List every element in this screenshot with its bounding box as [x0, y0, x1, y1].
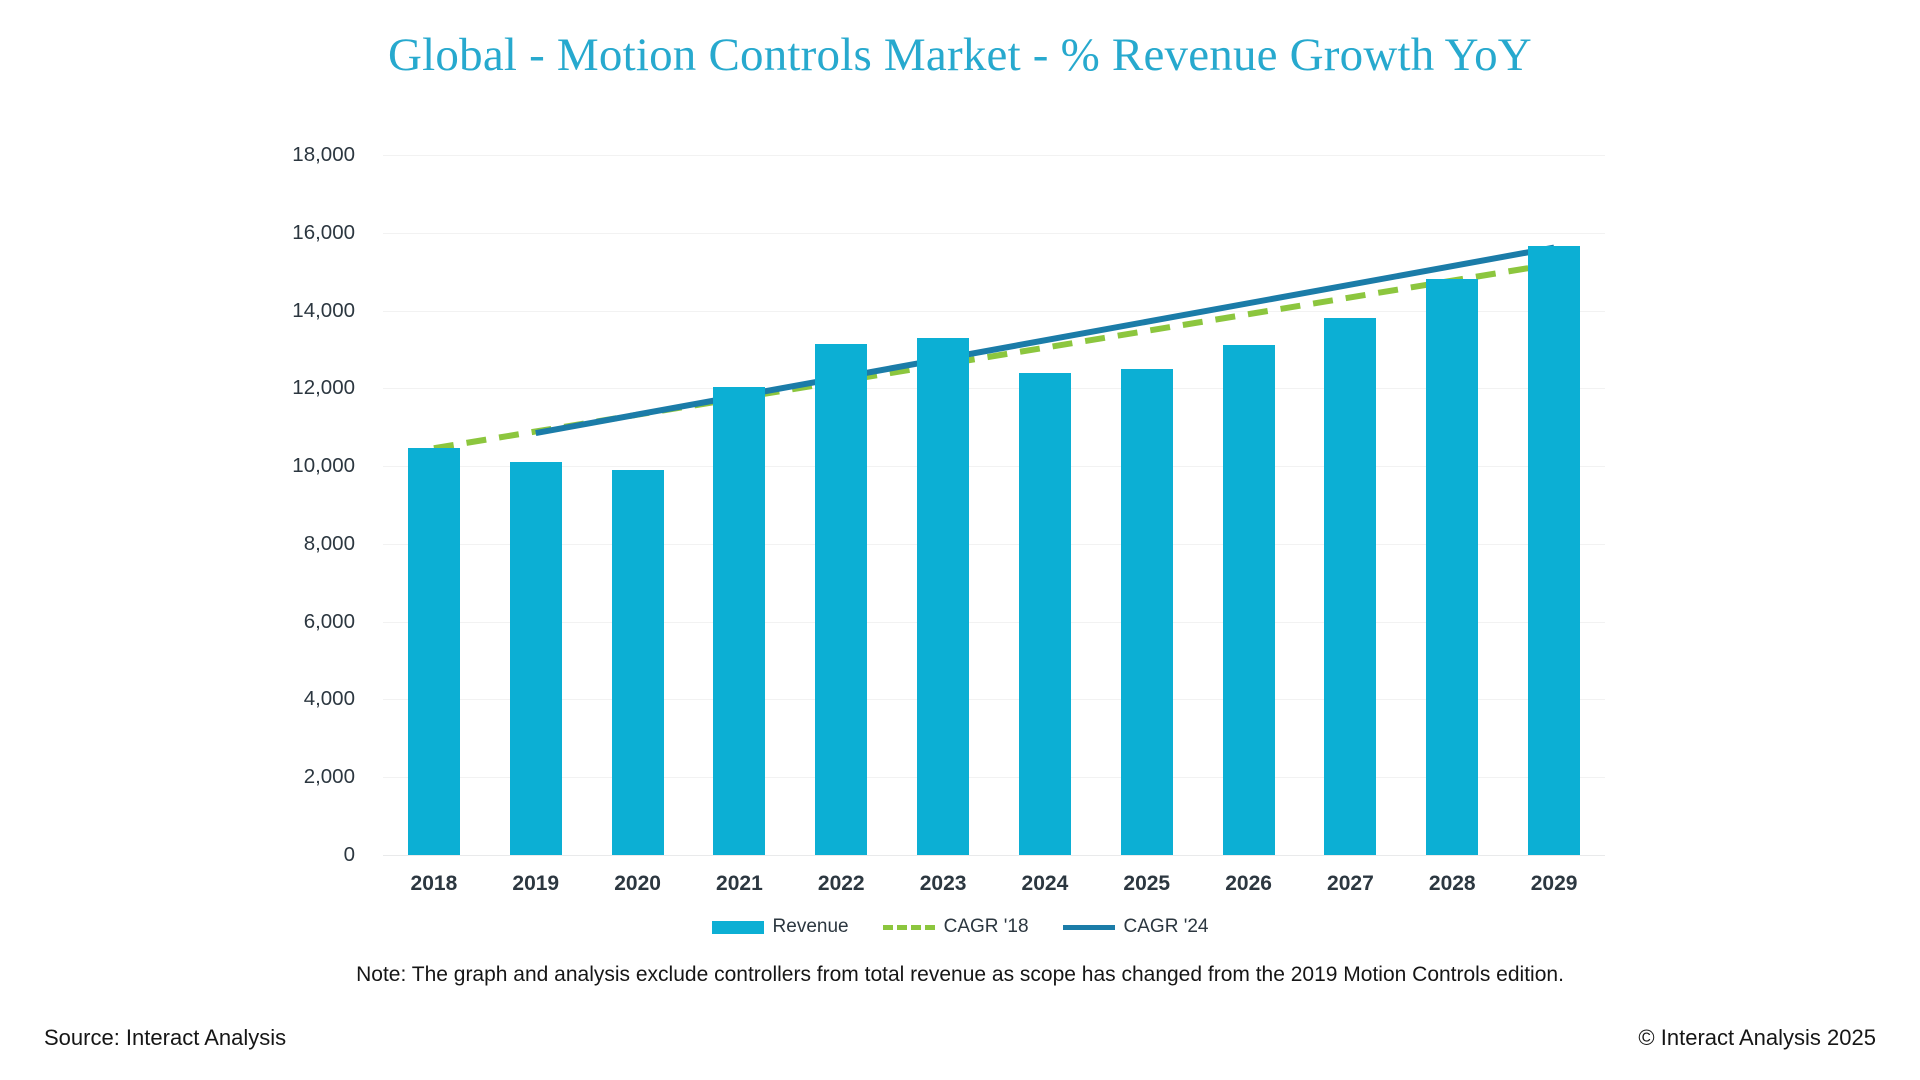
legend-item-cagr-24[interactable]: CAGR '24 [1063, 916, 1209, 938]
bar-2019 [510, 462, 562, 855]
chart-legend: RevenueCAGR '18CAGR '24 [0, 916, 1920, 938]
x-axis-tick: 2026 [1225, 872, 1272, 896]
legend-swatch-solid-line-icon [1063, 925, 1115, 930]
gridline [383, 855, 1605, 856]
legend-swatch-dashed-line-icon [883, 925, 935, 930]
page-title: Global - Motion Controls Market - % Reve… [0, 28, 1920, 82]
x-axis-tick: 2023 [920, 872, 967, 896]
bar-2021 [713, 387, 765, 855]
y-axis-tick: 10,000 [292, 454, 355, 478]
y-axis-tick: 16,000 [292, 221, 355, 245]
x-axis-tick: 2019 [512, 872, 559, 896]
x-axis-tick: 2022 [818, 872, 865, 896]
y-axis-tick: 12,000 [292, 376, 355, 400]
y-axis-labels: 18,00016,00014,00012,00010,0008,0006,000… [0, 155, 383, 855]
x-axis-tick: 2025 [1123, 872, 1170, 896]
chart-page: Global - Motion Controls Market - % Reve… [0, 0, 1920, 1080]
legend-item-cagr-18[interactable]: CAGR '18 [883, 916, 1029, 938]
legend-label: CAGR '24 [1124, 916, 1209, 938]
legend-swatch-bar-icon [712, 921, 764, 934]
bar-2029 [1528, 246, 1580, 855]
bar-2020 [612, 470, 664, 855]
bar-2026 [1223, 345, 1275, 855]
bar-2022 [815, 344, 867, 855]
legend-label: Revenue [773, 916, 849, 938]
y-axis-tick: 8,000 [304, 532, 355, 556]
bar-2027 [1324, 318, 1376, 855]
y-axis-tick: 18,000 [292, 143, 355, 167]
plot-area [383, 155, 1605, 855]
x-axis-tick: 2021 [716, 872, 763, 896]
x-axis-tick: 2020 [614, 872, 661, 896]
y-axis-tick: 0 [344, 843, 355, 867]
bar-2018 [408, 448, 460, 855]
bar-2028 [1426, 279, 1478, 855]
source-label: Source: Interact Analysis [44, 1025, 286, 1051]
bar-2025 [1121, 369, 1173, 855]
copyright-label: © Interact Analysis 2025 [1638, 1025, 1876, 1051]
x-axis-tick: 2028 [1429, 872, 1476, 896]
y-axis-tick: 6,000 [304, 610, 355, 634]
y-axis-tick: 2,000 [304, 765, 355, 789]
bar-2024 [1019, 373, 1071, 855]
x-axis-tick: 2029 [1531, 872, 1578, 896]
x-axis-tick: 2027 [1327, 872, 1374, 896]
y-axis-tick: 14,000 [292, 299, 355, 323]
y-axis-tick: 4,000 [304, 687, 355, 711]
trend-lines [383, 155, 1605, 855]
legend-label: CAGR '18 [944, 916, 1029, 938]
x-axis-tick: 2024 [1022, 872, 1069, 896]
legend-item-revenue[interactable]: Revenue [712, 916, 849, 938]
bar-2023 [917, 338, 969, 855]
x-axis-labels: 2018201920202021202220232024202520262027… [383, 872, 1605, 908]
x-axis-tick: 2018 [411, 872, 458, 896]
chart-note: Note: The graph and analysis exclude con… [0, 963, 1920, 987]
